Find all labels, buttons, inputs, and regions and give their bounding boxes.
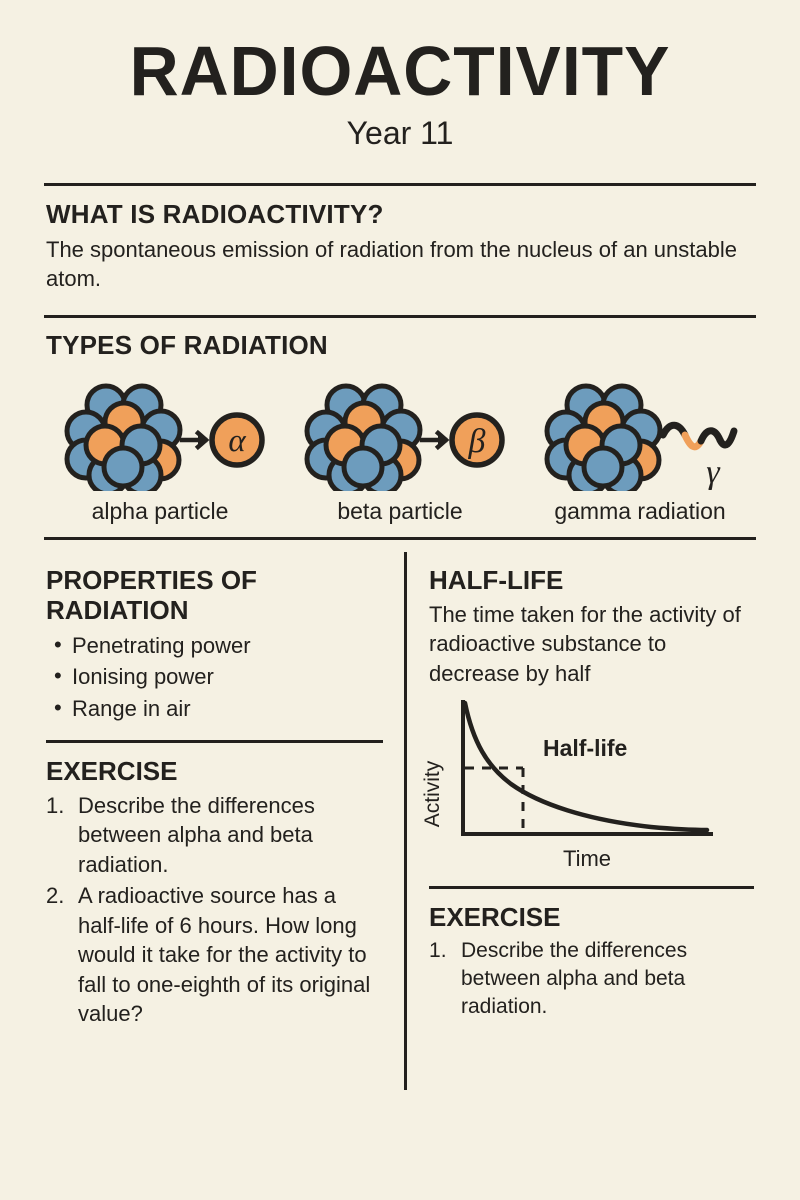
properties-list: Penetrating power Ionising power Range i… xyxy=(46,630,383,724)
chart-ylabel: Activity xyxy=(421,760,444,827)
divider-left-exercise xyxy=(46,740,383,743)
left-column: PROPERTIES OF RADIATION Penetrating powe… xyxy=(0,552,405,1030)
type-label-beta: beta particle xyxy=(337,500,462,523)
exercise-left-heading: EXERCISE xyxy=(46,757,383,787)
list-item: A radioactive source has a half-life of … xyxy=(46,881,383,1028)
page-subtitle: Year 11 xyxy=(0,117,800,149)
section-exercise-right: EXERCISE Describe the differences betwee… xyxy=(405,903,800,1021)
type-item-alpha: α alpha particle xyxy=(40,383,280,523)
gamma-symbol: γ xyxy=(706,454,721,491)
alpha-symbol: α xyxy=(228,423,246,459)
gamma-emission-icon: γ xyxy=(533,383,748,491)
poster-root: RADIOACTIVITY Year 11 WHAT IS RADIOACTIV… xyxy=(0,0,800,1200)
list-item: Penetrating power xyxy=(52,630,383,661)
chart-annotation: Half-life xyxy=(543,735,627,761)
section-exercise-left: EXERCISE Describe the differences betwee… xyxy=(0,757,405,1029)
type-label-alpha: alpha particle xyxy=(92,500,229,523)
beta-symbol: β xyxy=(467,423,485,460)
gamma-figure: γ xyxy=(533,383,748,491)
beta-emission-icon: β xyxy=(293,383,508,491)
types-heading: TYPES OF RADIATION xyxy=(46,331,754,361)
properties-heading: PROPERTIES OF RADIATION xyxy=(46,566,383,626)
definition-body: The spontaneous emission of radiation fr… xyxy=(46,235,754,293)
divider-right-exercise xyxy=(429,886,754,889)
type-item-beta: β beta particle xyxy=(280,383,520,523)
poster-header: RADIOACTIVITY Year 11 xyxy=(0,0,800,149)
list-item: Ionising power xyxy=(52,661,383,692)
list-item: Range in air xyxy=(52,693,383,724)
section-types: TYPES OF RADIATION xyxy=(0,318,800,361)
type-item-gamma: γ gamma radiation xyxy=(520,383,760,523)
right-column: HALF-LIFE The time taken for the activit… xyxy=(405,552,800,1030)
divider-under-types xyxy=(44,537,756,540)
exercise-right-list: Describe the differences between alpha a… xyxy=(429,937,754,1021)
alpha-figure: α xyxy=(53,383,268,491)
column-divider xyxy=(404,552,407,1090)
section-halflife: HALF-LIFE The time taken for the activit… xyxy=(405,566,800,688)
exercise-left-list: Describe the differences between alpha a… xyxy=(46,791,383,1029)
list-item: Describe the differences between alpha a… xyxy=(46,791,383,879)
section-properties: PROPERTIES OF RADIATION Penetrating powe… xyxy=(0,566,405,723)
halflife-graph-wrap: Activity Half-life xyxy=(405,688,800,884)
halflife-heading: HALF-LIFE xyxy=(429,566,754,596)
two-column-area: PROPERTIES OF RADIATION Penetrating powe… xyxy=(0,552,800,1030)
alpha-emission-icon: α xyxy=(53,383,268,491)
definition-heading: WHAT IS RADIOACTIVITY? xyxy=(46,200,754,230)
type-label-gamma: gamma radiation xyxy=(554,500,725,523)
page-title: RADIOACTIVITY xyxy=(12,38,788,105)
chart-xlabel: Time xyxy=(563,846,611,871)
decay-curve-chart: Activity Half-life xyxy=(411,694,771,879)
exercise-right-heading: EXERCISE xyxy=(429,903,754,933)
halflife-body: The time taken for the activity of radio… xyxy=(429,600,754,688)
list-item: Describe the differences between alpha a… xyxy=(429,937,754,1021)
types-row: α alpha particle xyxy=(0,367,800,523)
section-definition: WHAT IS RADIOACTIVITY? The spontaneous e… xyxy=(0,186,800,294)
beta-figure: β xyxy=(293,383,508,491)
